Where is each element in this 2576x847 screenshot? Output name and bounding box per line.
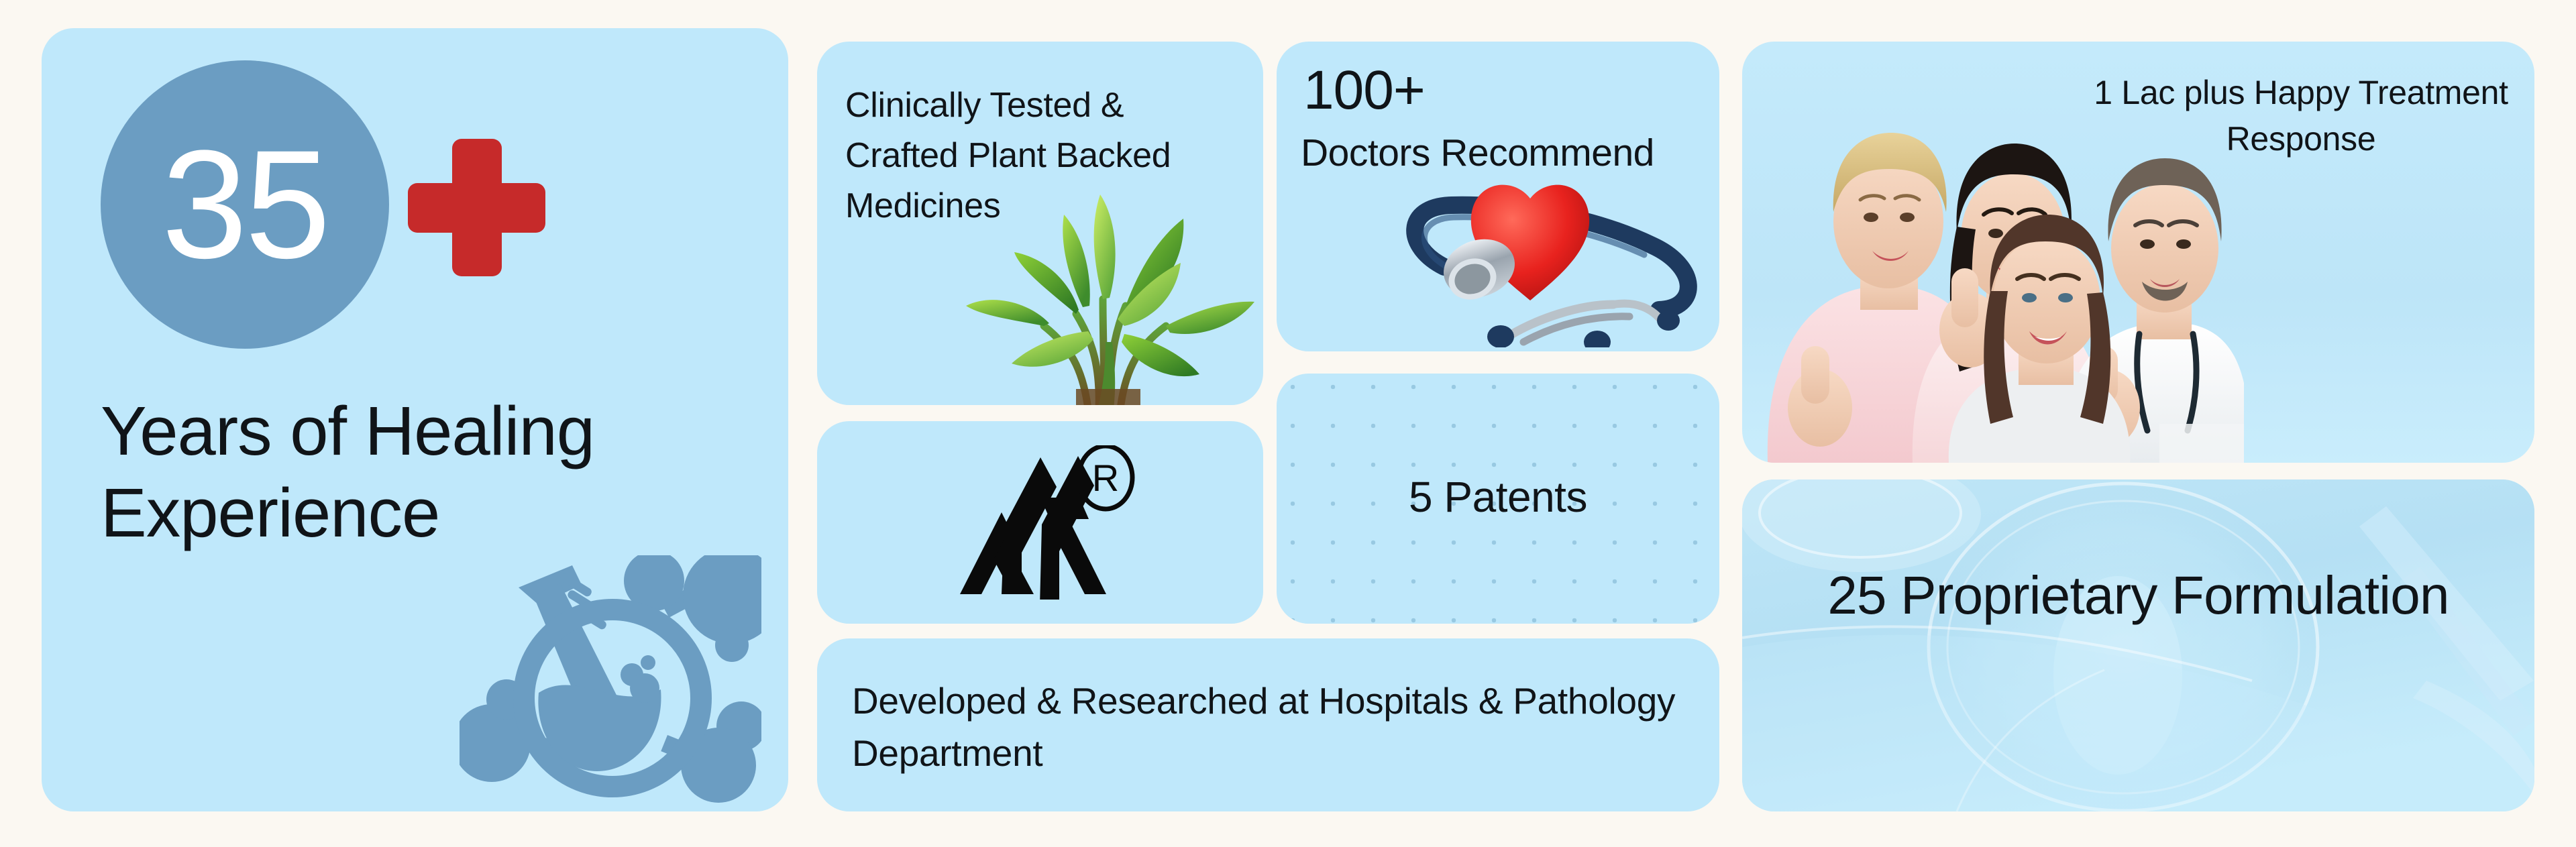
- green-plant-photo: [945, 188, 1263, 405]
- petri-dish-photo: [1742, 479, 2534, 811]
- card-brand-logo: R: [817, 421, 1263, 624]
- medical-cross-icon: [408, 139, 545, 276]
- ah-monogram-logo-icon: R: [940, 445, 1141, 600]
- svg-text:R: R: [1091, 457, 1118, 499]
- card-proprietary-formulation: 25 Proprietary Formulation: [1742, 479, 2534, 811]
- proprietary-formulation-text: 25 Proprietary Formulation: [1742, 559, 2534, 632]
- cross-vertical-bar: [452, 139, 502, 276]
- patents-label: 5 Patents: [1277, 475, 1719, 518]
- doctors-count: 100+: [1303, 63, 1425, 118]
- infographic-root: 35 Years of Healing Experience: [0, 0, 2576, 847]
- card-clinically-tested: Clinically Tested & Crafted Plant Backed…: [817, 42, 1263, 405]
- card-patents: 5 Patents: [1277, 374, 1719, 624]
- flask-molecule-icon: [460, 555, 761, 803]
- years-circle-badge: 35: [101, 60, 389, 349]
- years-badge-row: 35: [101, 60, 545, 349]
- years-number: 35: [162, 127, 328, 282]
- experience-title: Years of Healing Experience: [101, 390, 745, 553]
- card-happy-treatment-response: 1 Lac plus Happy Treatment Response: [1742, 42, 2534, 463]
- card-developed-researched: Developed & Researched at Hospitals & Pa…: [817, 638, 1719, 811]
- developed-researched-text: Developed & Researched at Hospitals & Pa…: [852, 675, 1690, 779]
- heart-stethoscope-photo: [1364, 166, 1719, 347]
- card-doctors-recommend: 100+ Doctors Recommend: [1277, 42, 1719, 351]
- happy-treatment-text: 1 Lac plus Happy Treatment Response: [2093, 70, 2509, 162]
- card-years-of-healing-experience: 35 Years of Healing Experience: [42, 28, 788, 811]
